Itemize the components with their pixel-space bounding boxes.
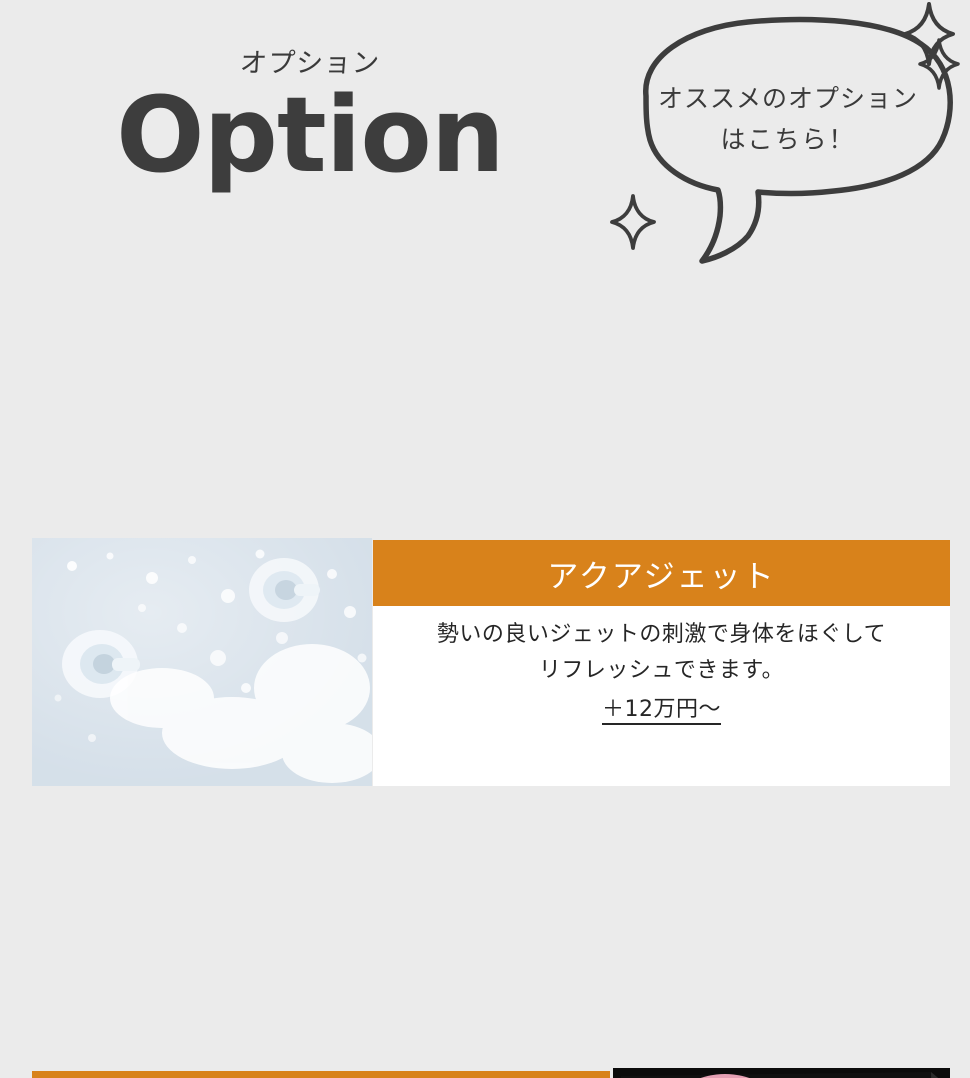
- page-title: オプション Option: [100, 50, 520, 187]
- speech-bubble-text: オススメのオプション はこちら！: [643, 78, 933, 161]
- page-title-main: Option: [100, 83, 520, 187]
- option-card-aqua-jet: アクアジェット 勢いの良いジェットの刺激で身体をほぐして リフレッシュできます。…: [0, 265, 970, 527]
- sparkle-left-icon: [612, 196, 654, 248]
- speech-bubble: オススメのオプション はこちら！: [598, 0, 970, 265]
- option-page: オプション Option オススメのオプション はこちら！: [0, 0, 970, 1078]
- option-card-plasmacluster: プラズマクラスター搭載換気乾燥暖房機 プラズマクラスター技術により、カビの発生 …: [0, 795, 970, 1078]
- option-card-bathroom-tv: 浴室テレビ（24型ワイド） ハイビジョン24型ワイドの迫力の大画面で 地上・BS…: [0, 530, 970, 795]
- speech-bubble-line-1: オススメのオプション: [643, 78, 933, 119]
- page-title-kana: オプション: [99, 50, 521, 77]
- speech-bubble-line-2: はこちら！: [643, 119, 933, 160]
- page-header: オプション Option オススメのオプション はこちら！: [0, 0, 970, 265]
